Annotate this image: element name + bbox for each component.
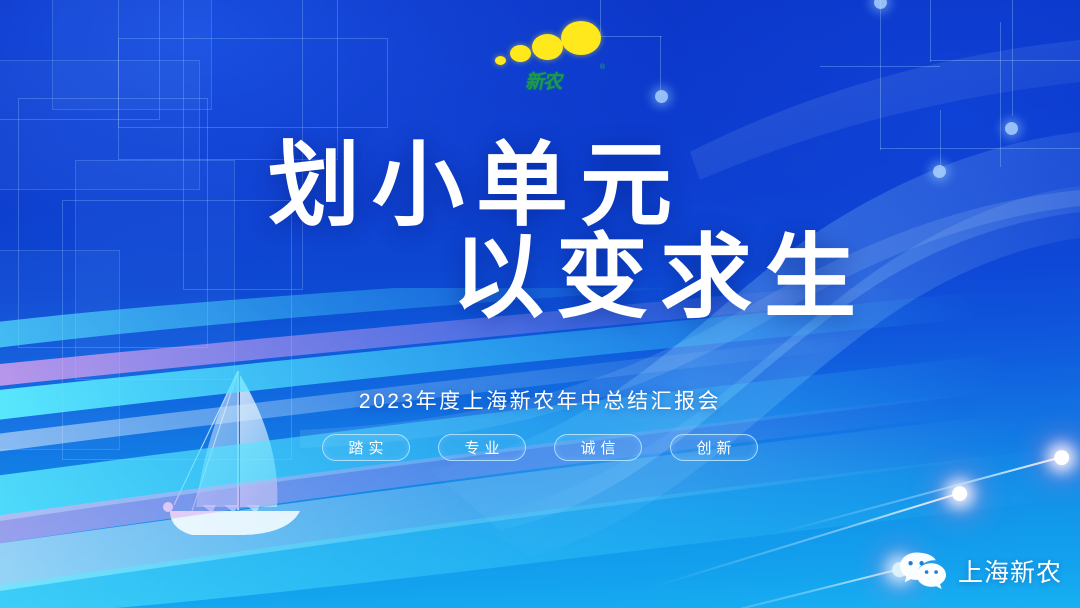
wechat-account-name: 上海新农 [958, 553, 1062, 589]
value-tag: 创新 [670, 434, 758, 461]
company-logo: 新农 ® [492, 18, 602, 98]
logo-dot-4 [561, 21, 601, 55]
value-tag: 诚信 [554, 434, 642, 461]
event-subtitle: 2023年度上海新农年中总结汇报会 [0, 385, 1080, 415]
wechat-account-badge[interactable]: 上海新农 [898, 550, 1062, 592]
logo-wordmark: 新农 [505, 68, 584, 92]
poster-canvas: 新农 ® 划小单元 以变求生 2023年度上海新农年中总结汇报会 踏实 专业 诚… [0, 0, 1080, 608]
logo-dot-3 [532, 34, 563, 60]
logo-registered-mark: ® [600, 64, 605, 71]
headline: 划小单元 以变求生 [0, 138, 1080, 325]
value-tag-list: 踏实 专业 诚信 创新 [0, 434, 1080, 461]
value-tag: 踏实 [322, 434, 410, 461]
logo-dot-2 [510, 45, 531, 62]
wechat-icon [898, 550, 948, 592]
logo-dot-1 [495, 56, 506, 65]
headline-line-2: 以变求生 [452, 230, 1080, 326]
headline-line-1: 划小单元 [268, 138, 1080, 234]
value-tag: 专业 [438, 434, 526, 461]
